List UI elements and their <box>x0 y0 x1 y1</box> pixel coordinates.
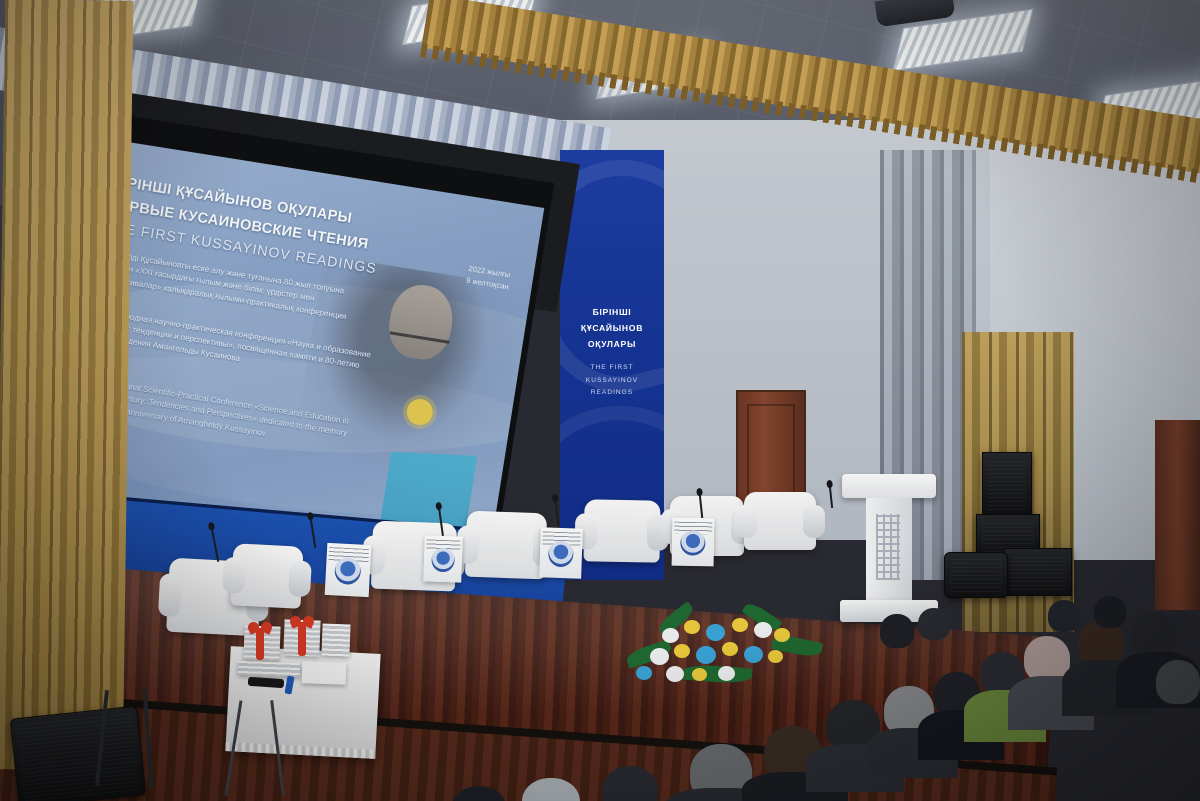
gift-stack <box>321 624 350 657</box>
speaker-podium <box>846 474 932 622</box>
banner-line-en-1: THE FIRST <box>560 362 664 374</box>
name-plaque <box>325 543 372 597</box>
microphone <box>554 500 559 526</box>
gift-ribbon <box>298 622 306 656</box>
banner-line-kk-3: ОҚУЛАРЫ <box>560 337 664 353</box>
name-plaque <box>672 518 715 567</box>
floral-arrangement <box>622 604 822 696</box>
armchair <box>230 543 303 609</box>
gift-ribbon <box>256 628 264 660</box>
gold-curtain-left <box>0 0 133 771</box>
armchair <box>583 499 660 562</box>
armchair <box>744 492 816 550</box>
podium-top <box>842 474 936 498</box>
banner-line-kk-2: ҚҰСАЙЫНОВ <box>560 321 664 337</box>
conference-hall-photo: БІРІНШІ ҚҰСАЙЫНОВ ОҚУЛАРЫ THE FIRST KUSS… <box>0 0 1200 801</box>
loudspeaker-cabinet <box>982 452 1032 516</box>
document-stack <box>238 661 300 677</box>
loudspeaker-cabinet <box>1004 548 1072 596</box>
name-plaque <box>423 535 463 582</box>
stage-monitor-speaker <box>944 552 1008 598</box>
banner-line-en-3: READINGS <box>560 387 664 399</box>
event-banner-text: БІРІНШІ ҚҰСАЙЫНОВ ОҚУЛАРЫ THE FIRST KUSS… <box>560 305 664 399</box>
name-plaque <box>539 527 583 578</box>
side-door[interactable] <box>1155 420 1200 610</box>
banner-line-kk-1: БІРІНШІ <box>560 305 664 321</box>
table-name-card <box>302 661 347 685</box>
banner-line-en-2: KUSSAYINOV <box>560 375 664 387</box>
podium-ornament <box>876 514 900 580</box>
stage-monitor-speaker <box>10 706 147 801</box>
armchair <box>465 511 547 580</box>
